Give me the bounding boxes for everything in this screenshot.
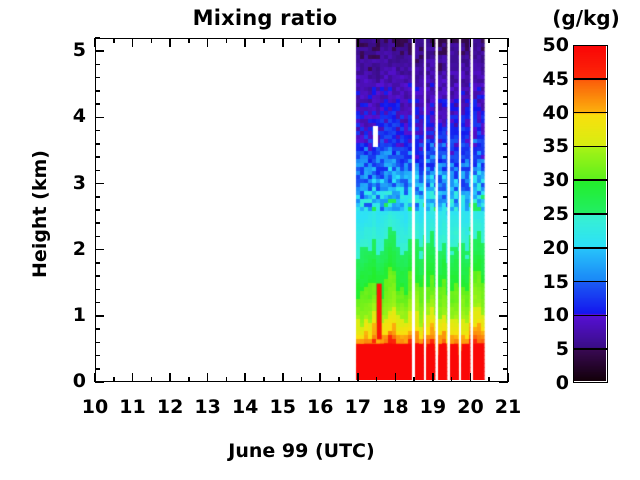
x-major-tick-top xyxy=(132,38,134,47)
y-minor-tick xyxy=(95,342,100,344)
colorbar-divider xyxy=(573,179,608,181)
heatmap-canvas xyxy=(96,39,506,380)
x-major-tick xyxy=(282,373,284,382)
x-minor-tick-top xyxy=(263,38,265,43)
x-major-tick-top xyxy=(319,38,321,47)
y-minor-tick xyxy=(95,143,100,145)
x-major-tick-top xyxy=(357,38,359,47)
x-minor-tick xyxy=(263,377,265,382)
y-minor-tick-right xyxy=(503,328,508,330)
y-tick-label: 1 xyxy=(52,304,86,326)
colorbar-tick-label: 5 xyxy=(521,338,569,360)
x-major-tick xyxy=(132,373,134,382)
y-major-tick xyxy=(95,183,104,185)
y-minor-tick-right xyxy=(503,342,508,344)
x-tick-label: 20 xyxy=(450,396,490,418)
colorbar-divider xyxy=(573,281,608,283)
colorbar-tick-label: 30 xyxy=(521,169,569,191)
x-tick-label: 12 xyxy=(150,396,190,418)
x-minor-tick xyxy=(413,377,415,382)
y-tick-label: 0 xyxy=(52,370,86,392)
y-minor-tick xyxy=(95,90,100,92)
y-minor-tick xyxy=(95,236,100,238)
y-minor-tick-right xyxy=(503,355,508,357)
y-major-tick-right xyxy=(499,249,508,251)
x-minor-tick-top xyxy=(151,38,153,43)
colorbar-unit-label: (g/kg) xyxy=(534,6,638,30)
colorbar-tick-label: 40 xyxy=(521,102,569,124)
colorbar-tick-label: 45 xyxy=(521,68,569,90)
plot-area xyxy=(95,38,508,382)
x-minor-tick-top xyxy=(413,38,415,43)
x-minor-tick xyxy=(376,377,378,382)
y-minor-tick xyxy=(95,196,100,198)
x-minor-tick xyxy=(488,377,490,382)
y-minor-tick xyxy=(95,302,100,304)
colorbar-tick-label: 15 xyxy=(521,271,569,293)
x-major-tick-top xyxy=(395,38,397,47)
y-tick-label: 2 xyxy=(52,238,86,260)
x-minor-tick-top xyxy=(226,38,228,43)
colorbar-divider xyxy=(573,315,608,317)
x-minor-tick xyxy=(151,377,153,382)
y-minor-tick-right xyxy=(503,222,508,224)
y-minor-tick xyxy=(95,37,100,39)
y-minor-tick-right xyxy=(503,170,508,172)
y-axis-title: Height (km) xyxy=(29,84,51,344)
x-major-tick xyxy=(395,373,397,382)
y-tick-label: 3 xyxy=(52,172,86,194)
x-tick-label: 16 xyxy=(300,396,340,418)
y-major-tick xyxy=(95,117,104,119)
y-major-tick-right xyxy=(499,183,508,185)
y-minor-tick xyxy=(95,130,100,132)
y-minor-tick-right xyxy=(503,130,508,132)
x-minor-tick xyxy=(338,377,340,382)
x-minor-tick xyxy=(226,377,228,382)
y-major-tick xyxy=(95,249,104,251)
colorbar-tick-label: 50 xyxy=(521,34,569,56)
y-major-tick-right xyxy=(499,315,508,317)
y-minor-tick-right xyxy=(503,90,508,92)
colorbar-tick-label: 20 xyxy=(521,237,569,259)
y-minor-tick-right xyxy=(503,143,508,145)
colorbar-divider xyxy=(573,247,608,249)
colorbar-tick-label: 35 xyxy=(521,135,569,157)
x-minor-tick xyxy=(451,377,453,382)
y-minor-tick xyxy=(95,368,100,370)
y-minor-tick xyxy=(95,156,100,158)
y-major-tick xyxy=(95,315,104,317)
x-minor-tick-top xyxy=(376,38,378,43)
colorbar-tick-label: 0 xyxy=(521,372,569,394)
y-minor-tick xyxy=(95,222,100,224)
y-minor-tick-right xyxy=(503,103,508,105)
x-tick-label: 19 xyxy=(413,396,453,418)
y-minor-tick xyxy=(95,209,100,211)
y-minor-tick-right xyxy=(503,236,508,238)
colorbar-tick-label: 25 xyxy=(521,203,569,225)
y-major-tick xyxy=(95,381,104,383)
y-minor-tick-right xyxy=(503,275,508,277)
colorbar-divider xyxy=(573,348,608,350)
x-major-tick-top xyxy=(470,38,472,47)
x-major-tick xyxy=(470,373,472,382)
x-minor-tick-top xyxy=(188,38,190,43)
x-major-tick xyxy=(357,373,359,382)
colorbar-divider xyxy=(573,213,608,215)
x-minor-tick xyxy=(301,377,303,382)
y-minor-tick xyxy=(95,77,100,79)
x-tick-label: 10 xyxy=(75,396,115,418)
x-minor-tick xyxy=(113,377,115,382)
y-major-tick-right xyxy=(499,117,508,119)
x-minor-tick-top xyxy=(113,38,115,43)
x-major-tick-top xyxy=(282,38,284,47)
x-major-tick xyxy=(169,373,171,382)
x-minor-tick-top xyxy=(338,38,340,43)
x-major-tick-top xyxy=(507,38,509,47)
y-minor-tick xyxy=(95,64,100,66)
y-minor-tick xyxy=(95,262,100,264)
x-major-tick-top xyxy=(169,38,171,47)
x-major-tick xyxy=(207,373,209,382)
y-tick-label: 4 xyxy=(52,105,86,127)
y-major-tick-right xyxy=(499,381,508,383)
y-minor-tick-right xyxy=(503,302,508,304)
x-minor-tick-top xyxy=(488,38,490,43)
colorbar-divider xyxy=(573,112,608,114)
x-major-tick-top xyxy=(207,38,209,47)
x-major-tick xyxy=(432,373,434,382)
x-major-tick xyxy=(319,373,321,382)
x-major-tick-top xyxy=(244,38,246,47)
x-axis-title: June 99 (UTC) xyxy=(95,440,508,462)
page-title: Mixing ratio xyxy=(0,6,530,30)
x-major-tick-top xyxy=(94,38,96,47)
y-minor-tick-right xyxy=(503,368,508,370)
x-minor-tick-top xyxy=(451,38,453,43)
y-minor-tick xyxy=(95,103,100,105)
y-minor-tick xyxy=(95,355,100,357)
y-minor-tick-right xyxy=(503,64,508,66)
figure-root: Mixing ratio 101112131415161718192021 01… xyxy=(0,0,640,480)
y-major-tick xyxy=(95,50,104,52)
x-tick-label: 17 xyxy=(338,396,378,418)
x-minor-tick xyxy=(188,377,190,382)
x-tick-label: 15 xyxy=(263,396,303,418)
x-major-tick xyxy=(244,373,246,382)
y-minor-tick xyxy=(95,275,100,277)
y-minor-tick-right xyxy=(503,209,508,211)
colorbar-divider xyxy=(573,78,608,80)
x-minor-tick-top xyxy=(301,38,303,43)
y-minor-tick-right xyxy=(503,196,508,198)
y-minor-tick-right xyxy=(503,262,508,264)
y-minor-tick-right xyxy=(503,77,508,79)
x-tick-label: 14 xyxy=(225,396,265,418)
y-minor-tick xyxy=(95,289,100,291)
x-tick-label: 21 xyxy=(488,396,528,418)
y-minor-tick xyxy=(95,328,100,330)
x-tick-label: 11 xyxy=(113,396,153,418)
x-tick-label: 18 xyxy=(375,396,415,418)
y-minor-tick xyxy=(95,170,100,172)
colorbar-tick-label: 10 xyxy=(521,304,569,326)
x-major-tick-top xyxy=(432,38,434,47)
y-minor-tick-right xyxy=(503,156,508,158)
x-tick-label: 13 xyxy=(188,396,228,418)
y-tick-label: 5 xyxy=(52,39,86,61)
y-minor-tick-right xyxy=(503,289,508,291)
y-major-tick-right xyxy=(499,50,508,52)
colorbar-divider xyxy=(573,146,608,148)
